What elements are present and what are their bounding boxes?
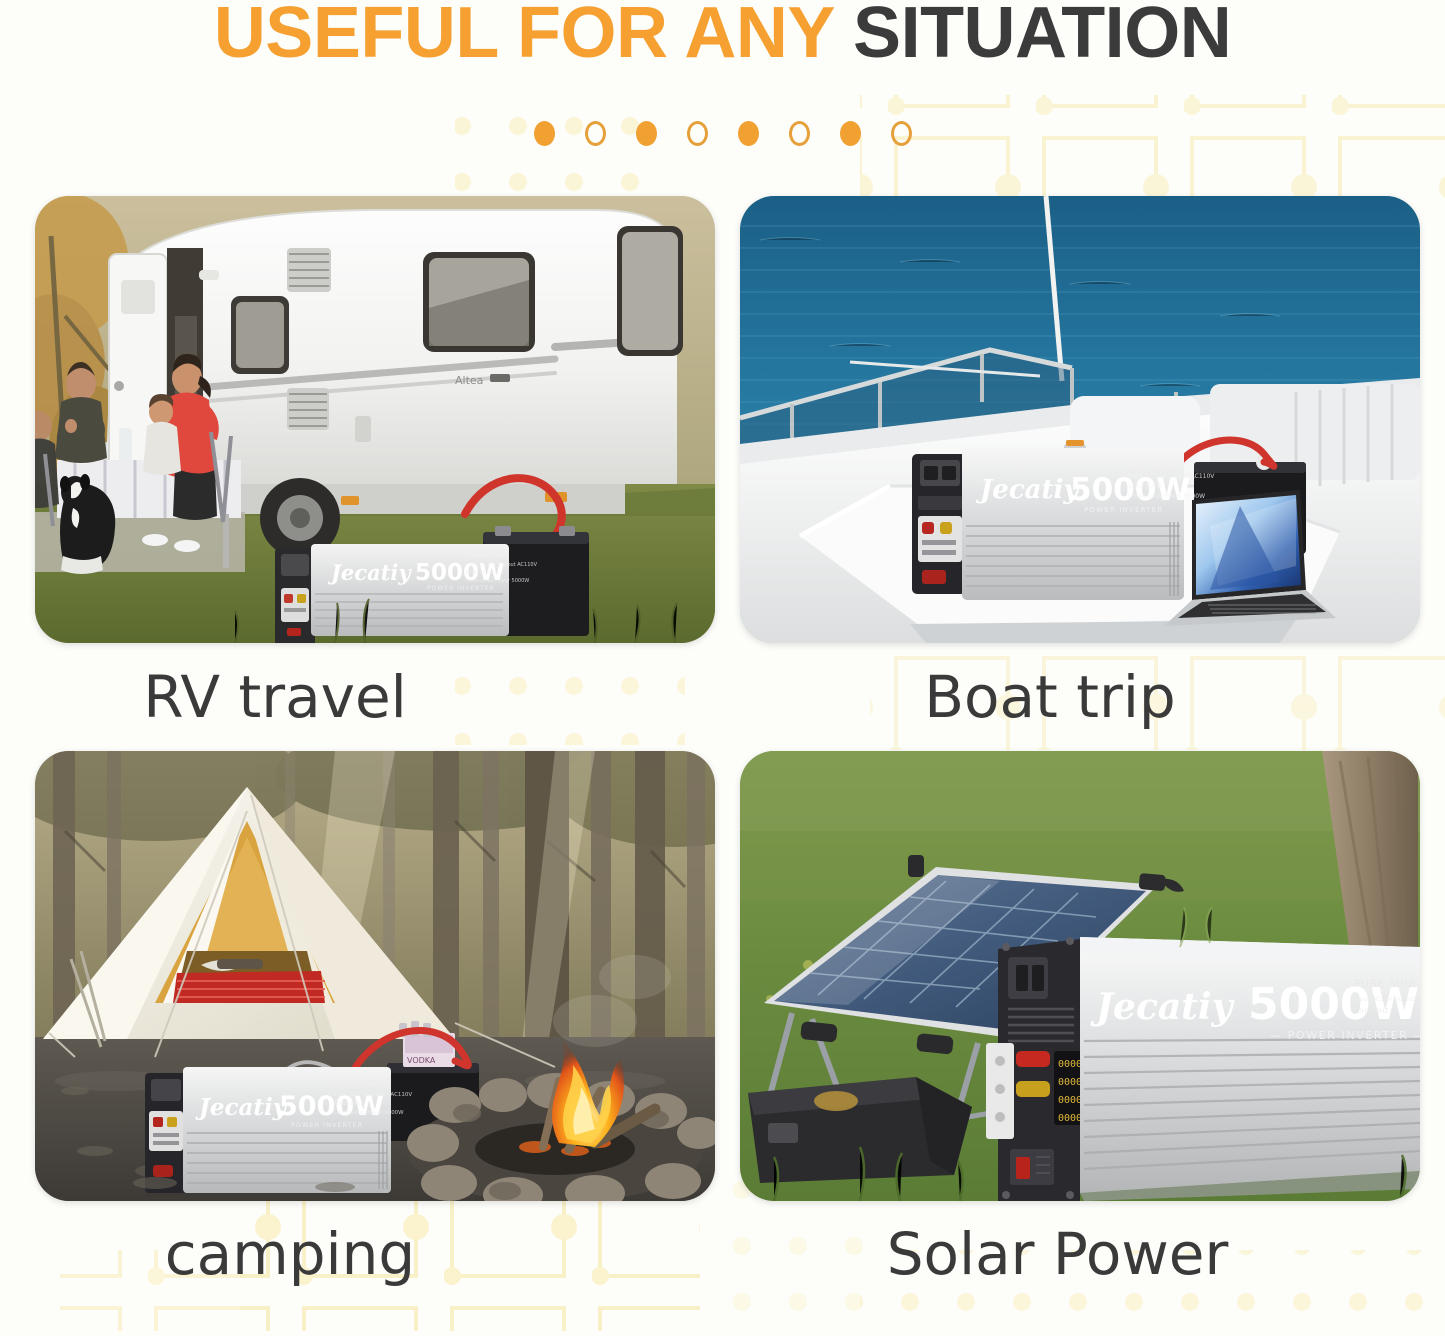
dot-filled	[738, 121, 759, 146]
svg-text:50HZ 60HZ: 50HZ 60HZ	[1128, 483, 1162, 490]
svg-text:PURE SINE WAVE: PURE SINE WAVE	[465, 554, 507, 560]
page-title-dark: SITUATION	[853, 0, 1231, 73]
svg-text:Continuous Power 5000W/10000W: Continuous Power 5000W/10000W	[1354, 1020, 1420, 1027]
page-title: USEFUL FOR ANY SITUATION	[0, 0, 1445, 82]
caption-rv-travel: RV travel	[35, 643, 715, 751]
svg-text:POWER INVERTER: POWER INVERTER	[427, 585, 495, 592]
caption-solar-power: Solar Power	[740, 1201, 1420, 1306]
svg-text:Jecatiy: Jecatiy	[1090, 986, 1234, 1028]
caption-text: Boat trip	[924, 663, 1176, 731]
scene-rv-travel: Altea	[35, 196, 715, 643]
svg-text:Altea: Altea	[455, 374, 483, 387]
photo-boat-trip: Jecatiy 5000W POWER INVERTER PURE SINE W…	[740, 196, 1420, 643]
svg-text:VODKA: VODKA	[407, 1056, 436, 1065]
dot-outline	[687, 121, 708, 146]
svg-text:POWER INVERTER: POWER INVERTER	[1084, 506, 1163, 514]
dot-outline	[789, 121, 810, 146]
caption-text: camping	[165, 1220, 415, 1288]
caption-text: Solar Power	[887, 1220, 1229, 1288]
svg-text:Jecatiy: Jecatiy	[975, 475, 1080, 505]
svg-text:Jecatiy: Jecatiy	[327, 560, 412, 585]
use-case-grid: Altea	[35, 196, 1420, 1306]
caption-boat-trip: Boat trip	[740, 643, 1420, 751]
scene-camping: VODKA	[35, 751, 715, 1201]
dot-filled	[840, 121, 861, 146]
svg-text:0000: 0000	[1058, 1095, 1082, 1106]
photo-rv-travel: Altea	[35, 196, 715, 643]
caption-camping: camping	[35, 1201, 715, 1306]
decorative-dot-strip	[0, 118, 1445, 148]
photo-camping: VODKA	[35, 751, 715, 1201]
svg-text:Continuous Power 5000W: Continuous Power 5000W	[1128, 493, 1205, 500]
svg-text:Input DC12V Output AC110V: Input DC12V Output AC110V	[1128, 473, 1215, 480]
svg-text:Input DC12V Output AC110V: Input DC12V Output AC110V	[465, 562, 538, 568]
dot-filled	[636, 121, 657, 146]
svg-text:0000: 0000	[1058, 1077, 1082, 1088]
scene-solar-power: 00000000 00000000 Jecatiy 5000W — POWER …	[740, 751, 1420, 1201]
photo-solar-power: 00000000 00000000 Jecatiy 5000W — POWER …	[740, 751, 1420, 1201]
svg-text:POWER INVERTER: POWER INVERTER	[291, 1121, 363, 1129]
svg-text:PURE SINE WAVE: PURE SINE WAVE	[333, 1083, 380, 1089]
svg-text:50HZ 60HZ: 50HZ 60HZ	[1354, 1008, 1388, 1015]
svg-text:— POWER INVERTER —: — POWER INVERTER —	[1270, 1029, 1420, 1042]
page-title-orange: USEFUL FOR ANY	[214, 0, 853, 73]
svg-text:Input DC12V Output AC110V: Input DC12V Output AC110V	[1354, 996, 1420, 1003]
svg-text:Jecatiy: Jecatiy	[195, 1094, 288, 1121]
svg-text:0000: 0000	[1058, 1059, 1082, 1070]
svg-text:50HZ 60HZ: 50HZ 60HZ	[333, 1101, 365, 1107]
svg-text:PURE SINE WAVE: PURE SINE WAVE	[1128, 463, 1179, 470]
dot-outline	[585, 121, 606, 146]
caption-text: RV travel	[143, 663, 407, 731]
svg-text:Continuous Power 5000W: Continuous Power 5000W	[465, 578, 529, 584]
dot-filled	[534, 121, 555, 146]
svg-text:0000: 0000	[1058, 1113, 1082, 1124]
svg-text:PURE SINE WAVE: PURE SINE WAVE	[1354, 977, 1420, 990]
svg-text:Input DC12V Output AC110V: Input DC12V Output AC110V	[333, 1092, 412, 1098]
svg-text:Continuous Power 5000W: Continuous Power 5000W	[333, 1110, 404, 1116]
svg-text:50HZ / 60HZ: 50HZ / 60HZ	[465, 570, 498, 576]
dot-outline	[891, 121, 912, 146]
scene-boat-trip: Jecatiy 5000W POWER INVERTER PURE SINE W…	[740, 196, 1420, 643]
